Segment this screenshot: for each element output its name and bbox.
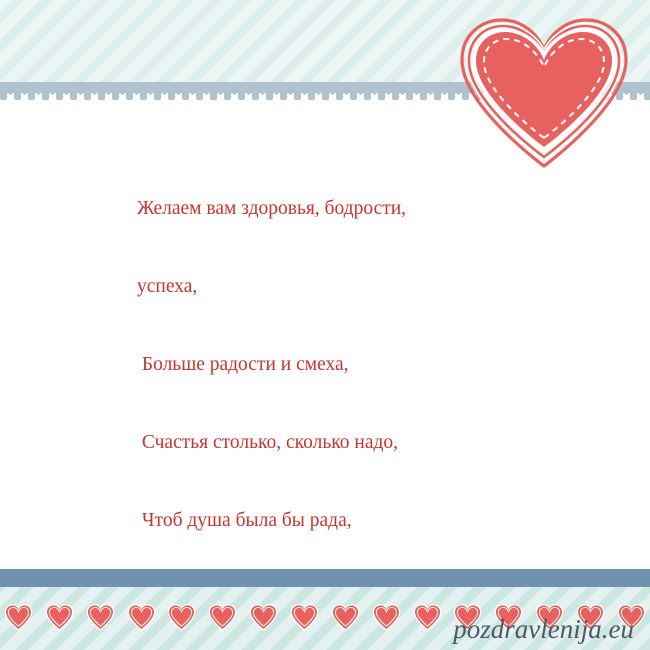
heart-icon: [290, 603, 319, 631]
heart-icon: [249, 603, 278, 631]
heart-icon: [4, 603, 33, 631]
heart-icon: [45, 603, 74, 631]
heart-icon: [413, 603, 442, 631]
heart-icon: [167, 603, 196, 631]
heart-icon: [86, 603, 115, 631]
poem-line: Больше радости и смеха,: [137, 352, 557, 378]
poem-line: успеха,: [137, 274, 557, 300]
heart-icon: [127, 603, 156, 631]
poem-line: Счастья столько, сколько надо,: [137, 430, 557, 456]
bottom-blue-band: [0, 569, 650, 587]
heart-icon: [331, 603, 360, 631]
watermark: pozdravlenija.eu: [453, 614, 634, 645]
heart-icon: [372, 603, 401, 631]
greeting-card: Желаем вам здоровья, бодрости, успеха, Б…: [0, 0, 650, 650]
poem-line: Чтоб душа была бы рада,: [137, 508, 557, 534]
poem-line: Желаем вам здоровья, бодрости,: [137, 196, 557, 222]
bottom-zigzag-edge: [0, 558, 650, 569]
heart-icon: [208, 603, 237, 631]
